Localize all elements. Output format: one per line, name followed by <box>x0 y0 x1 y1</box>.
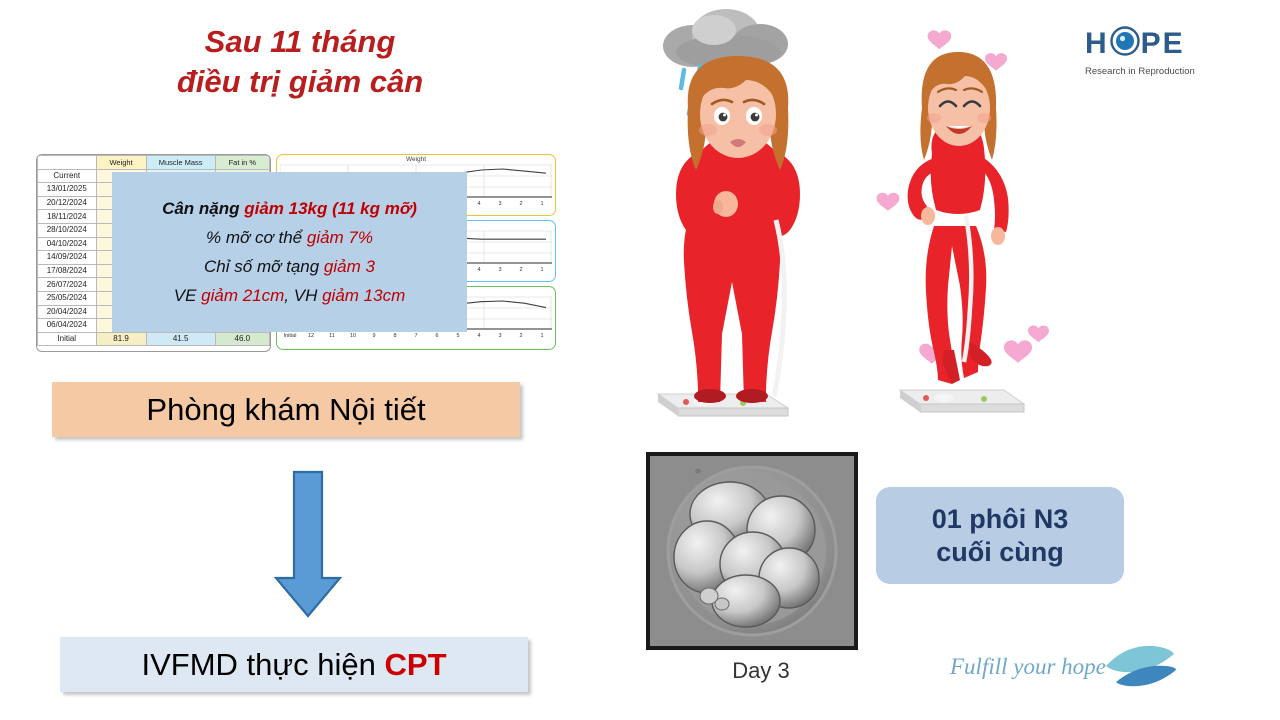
chart-axis-fat-percent: Initial121110987654321 <box>277 333 555 339</box>
chart-axis-tick: 1 <box>533 333 551 339</box>
cell-date: 14/09/2024 <box>38 251 97 265</box>
chart-axis-tick: 3 <box>491 201 509 207</box>
cell-date: 20/04/2024 <box>38 305 97 319</box>
hope-logo: H PE Research in Reproduction <box>1085 26 1245 88</box>
summary-text-highlight: giảm 21cm <box>201 286 284 305</box>
embryo-note-line-2: cuối cùng <box>936 537 1064 568</box>
chart-axis-tick: 8 <box>386 333 404 339</box>
weighing-scale-right <box>900 390 1024 412</box>
embryo-note-line-1: 01 phôi N3 <box>932 504 1069 535</box>
cell-date: 18/11/2024 <box>38 210 97 224</box>
chart-title-weight: Weight <box>277 156 555 163</box>
summary-text-plain: Cân nặng <box>162 199 244 218</box>
table-header-row: Weight Muscle Mass Fat in % <box>38 156 270 170</box>
happy-slim-woman-figure <box>900 52 1024 412</box>
chart-axis-tick: 7 <box>407 333 425 339</box>
slide-canvas: Sau 11 tháng điều trị giảm cân Weight Mu… <box>0 0 1280 720</box>
chart-axis-tick: 2 <box>512 333 530 339</box>
cell-weight: 81.9 <box>96 332 146 346</box>
cell-date: 20/12/2024 <box>38 196 97 210</box>
ivfmd-label-plain: IVFMD thực hiện <box>142 647 385 682</box>
summary-line-body-fat: % mỡ cơ thể giảm 7% <box>206 228 373 248</box>
page-title: Sau 11 tháng điều trị giảm cân <box>30 22 570 103</box>
embryo-figure: Day 3 <box>646 452 876 704</box>
fulfill-tagline: Fulfill your hope <box>950 654 1106 680</box>
weight-loss-illustration <box>648 4 1063 434</box>
chart-axis-tick: 3 <box>491 267 509 273</box>
column-header-fat-percent: Fat in % <box>215 156 269 170</box>
table-row: Initial81.941.546.0 <box>38 332 270 346</box>
summary-line-circumference: VE giảm 21cm, VH giảm 13cm <box>174 286 405 306</box>
down-arrow <box>258 470 358 620</box>
chart-axis-tick: 2 <box>512 201 530 207</box>
column-header-blank <box>38 156 97 170</box>
chart-axis-tick: 10 <box>344 333 362 339</box>
summary-text-highlight: giảm 3 <box>324 257 375 276</box>
summary-text-plain: % mỡ cơ thể <box>206 228 307 247</box>
chart-axis-tick: 6 <box>428 333 446 339</box>
chart-axis-tick: 1 <box>533 267 551 273</box>
summary-text-highlight: giảm 13kg (11 kg mỡ) <box>244 199 417 218</box>
illustration-svg <box>648 4 1063 434</box>
clinic-box-label: Phòng khám Nội tiết <box>146 392 425 428</box>
down-arrow-icon <box>258 470 358 620</box>
summary-text-highlight: giảm 7% <box>307 228 373 247</box>
cell-date: 13/01/2025 <box>38 183 97 197</box>
hope-letters-pe: PE <box>1141 29 1185 59</box>
summary-line-visceral-fat: Chỉ số mỡ tạng giảm 3 <box>204 257 375 277</box>
chart-axis-tick: Initial <box>281 333 299 339</box>
clinic-box[interactable]: Phòng khám Nội tiết <box>52 382 520 437</box>
embryo-image <box>646 452 858 650</box>
summary-text-plain: Chỉ số mỡ tạng <box>204 257 324 276</box>
ivfmd-box-label: IVFMD thực hiện CPT <box>142 647 447 683</box>
title-line-2: điều trị giảm cân <box>30 62 570 102</box>
cell-muscle-mass: 41.5 <box>146 332 215 346</box>
chart-axis-tick: 4 <box>470 201 488 207</box>
hope-eye-icon <box>1110 26 1140 62</box>
embryo-micrograph-svg <box>650 456 854 646</box>
summary-line-weight: Cân nặng giảm 13kg (11 kg mỡ) <box>162 199 417 219</box>
chart-axis-tick: 3 <box>491 333 509 339</box>
cell-date: Current <box>38 169 97 183</box>
chart-axis-tick: 4 <box>470 267 488 273</box>
hope-wordmark: H PE <box>1085 26 1245 62</box>
leaf-wave-icon <box>1102 642 1178 690</box>
sad-overweight-woman-figure <box>658 56 800 416</box>
chart-axis-tick: 1 <box>533 201 551 207</box>
summary-callout: Cân nặng giảm 13kg (11 kg mỡ) % mỡ cơ th… <box>112 172 467 332</box>
hope-letter-h: H <box>1085 29 1109 59</box>
hope-tagline: Research in Reproduction <box>1085 66 1245 77</box>
fulfill-your-hope-logo: Fulfill your hope <box>950 640 1180 700</box>
summary-text-plain: VE <box>174 286 201 305</box>
chart-axis-tick: 4 <box>470 333 488 339</box>
cell-date: 06/04/2024 <box>38 319 97 333</box>
summary-text-highlight-2: giảm 13cm <box>322 286 405 305</box>
embryo-caption: Day 3 <box>646 658 876 684</box>
cell-date: Initial <box>38 332 97 346</box>
cell-date: 25/05/2024 <box>38 291 97 305</box>
title-line-1: Sau 11 tháng <box>30 22 570 62</box>
cell-date: 17/08/2024 <box>38 264 97 278</box>
cell-date: 04/10/2024 <box>38 237 97 251</box>
summary-text-plain-2: VH <box>289 286 322 305</box>
column-header-weight: Weight <box>96 156 146 170</box>
chart-axis-tick: 11 <box>323 333 341 339</box>
ivfmd-box[interactable]: IVFMD thực hiện CPT <box>60 637 528 692</box>
chart-axis-tick: 12 <box>302 333 320 339</box>
cell-date: 26/07/2024 <box>38 278 97 292</box>
column-header-muscle-mass: Muscle Mass <box>146 156 215 170</box>
chart-axis-tick: 5 <box>449 333 467 339</box>
cell-fat-percent: 46.0 <box>215 332 269 346</box>
embryo-note-box: 01 phôi N3 cuối cùng <box>876 487 1124 584</box>
chart-axis-tick: 2 <box>512 267 530 273</box>
cell-date: 28/10/2024 <box>38 223 97 237</box>
ivfmd-label-accent: CPT <box>385 647 447 682</box>
chart-axis-tick: 9 <box>365 333 383 339</box>
